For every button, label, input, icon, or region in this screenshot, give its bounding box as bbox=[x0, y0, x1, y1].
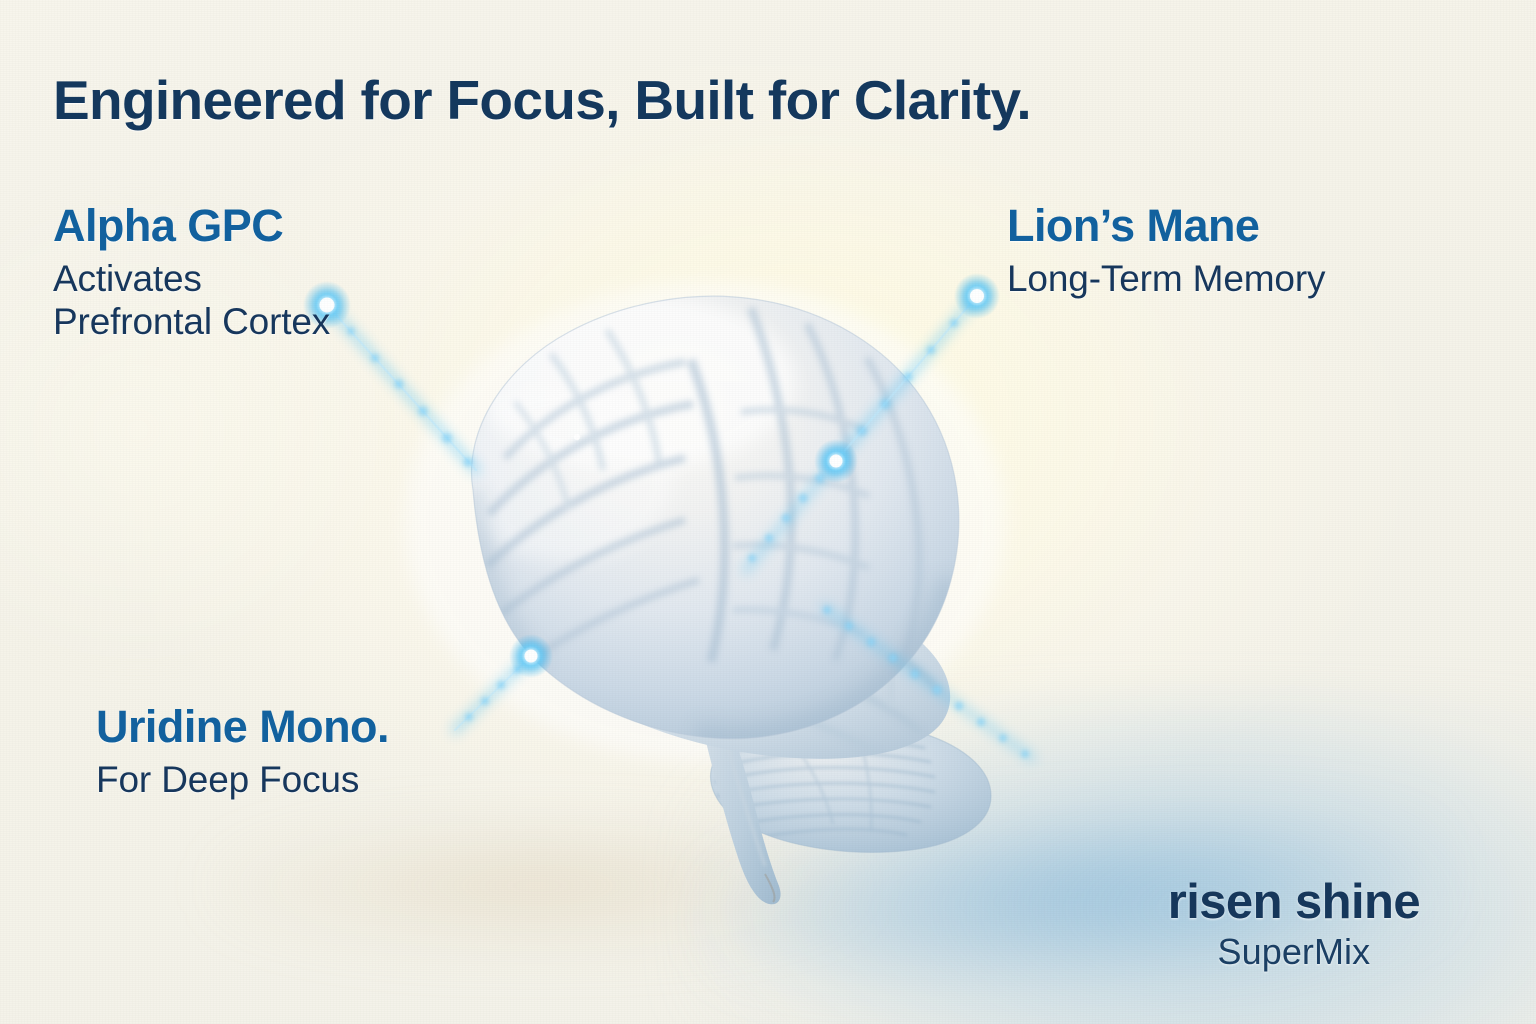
callout-alpha-gpc-ingredient: Alpha GPC bbox=[53, 202, 330, 250]
callout-lions-mane-ingredient: Lion’s Mane bbox=[1007, 202, 1325, 250]
callout-uridine-mono-benefit: For Deep Focus bbox=[96, 758, 389, 802]
callout-alpha-gpc: Alpha GPC Activates Prefrontal Cortex bbox=[53, 202, 330, 344]
poster-canvas: Engineered for Focus, Built for Clarity.… bbox=[0, 0, 1536, 1024]
callout-lions-mane-benefit: Long-Term Memory bbox=[1007, 257, 1325, 301]
page-title: Engineered for Focus, Built for Clarity. bbox=[53, 68, 1031, 132]
brand-name: risen shine bbox=[1168, 877, 1420, 928]
brand-lockup: risen shine SuperMix bbox=[1168, 877, 1420, 972]
callout-alpha-gpc-benefit: Activates Prefrontal Cortex bbox=[53, 257, 330, 344]
callout-uridine-mono-ingredient: Uridine Mono. bbox=[96, 703, 389, 751]
callout-uridine-mono-benefit-line-1: For Deep Focus bbox=[96, 758, 389, 802]
brand-product-name: SuperMix bbox=[1168, 932, 1420, 972]
callout-lions-mane: Lion’s Mane Long-Term Memory bbox=[1007, 202, 1325, 300]
callout-uridine-mono: Uridine Mono. For Deep Focus bbox=[96, 703, 389, 801]
background-base bbox=[0, 0, 1536, 1024]
callout-alpha-gpc-benefit-line-1: Activates bbox=[53, 257, 330, 301]
callout-lions-mane-benefit-line-1: Long-Term Memory bbox=[1007, 257, 1325, 301]
callout-alpha-gpc-benefit-line-2: Prefrontal Cortex bbox=[53, 300, 330, 344]
